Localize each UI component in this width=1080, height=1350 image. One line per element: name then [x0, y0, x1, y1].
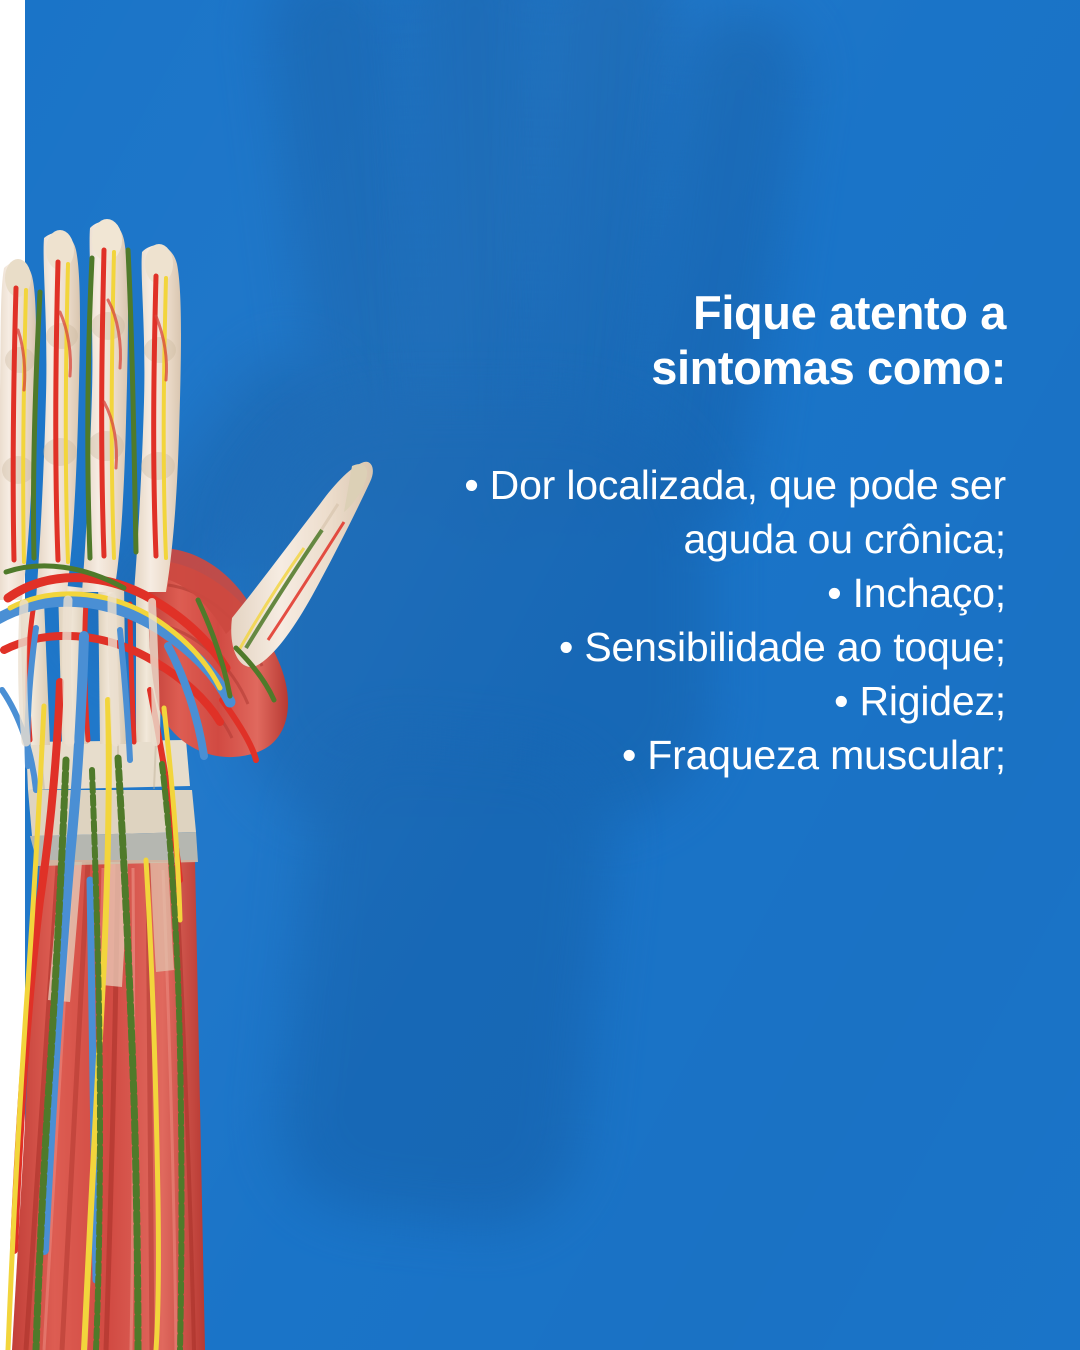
symptom-list: • Dor localizada, que pode ser aguda ou …: [386, 458, 1006, 783]
text-column: Fique atento a sintomas como: • Dor loca…: [386, 285, 1006, 783]
anatomical-hand-image: [0, 0, 400, 1350]
list-item: • Sensibilidade ao toque;: [386, 620, 1006, 674]
list-item: • Inchaço;: [386, 566, 1006, 620]
list-item: • Fraqueza muscular;: [386, 728, 1006, 782]
page-title: Fique atento a sintomas como:: [386, 285, 1006, 396]
list-item: • Rigidez;: [386, 674, 1006, 728]
list-item: • Dor localizada, que pode ser aguda ou …: [386, 458, 1006, 566]
poster-canvas: Fique atento a sintomas como: • Dor loca…: [0, 0, 1080, 1350]
